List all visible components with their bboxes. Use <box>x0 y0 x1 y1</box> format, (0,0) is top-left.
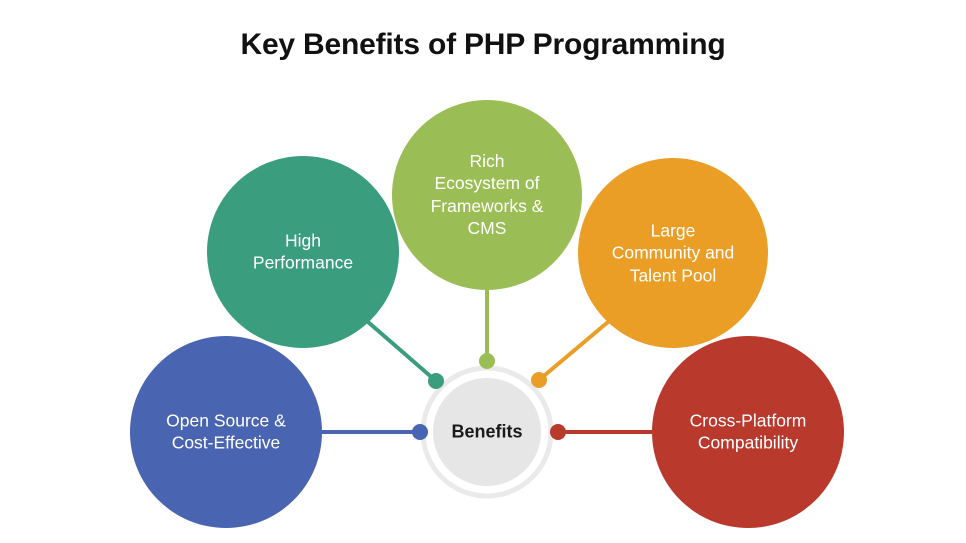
node-circle-open-source[interactable] <box>130 336 322 528</box>
hub-circle[interactable] <box>433 378 541 486</box>
connector-dot-high-performance <box>428 373 444 389</box>
node-circle-cross-platform[interactable] <box>652 336 844 528</box>
diagram-canvas: Key Benefits of PHP Programming High Per… <box>0 0 966 543</box>
connector-dot-open-source <box>412 424 428 440</box>
diagram-graphics <box>0 0 966 543</box>
connector-dot-cross-platform <box>550 424 566 440</box>
node-circle-large-community[interactable] <box>578 158 768 348</box>
connector-line-high-performance <box>368 322 436 381</box>
connector-dot-rich-ecosystem <box>479 353 495 369</box>
node-circle-rich-ecosystem[interactable] <box>392 100 582 290</box>
hub-circle-group <box>423 368 551 496</box>
connector-dot-large-community <box>531 372 547 388</box>
node-circle-high-performance[interactable] <box>207 156 399 348</box>
connector-line-large-community <box>539 322 608 380</box>
